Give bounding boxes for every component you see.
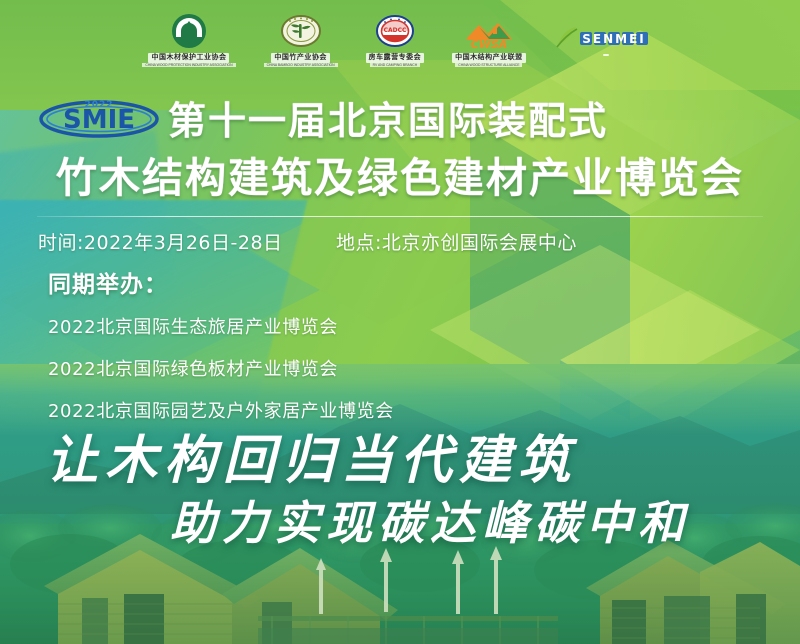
logo-cwsa-sublabel: CHINA WOOD STRUCTURE ALLIANCE bbox=[455, 63, 522, 67]
event-date: 时间:2022年3月26日-28日 bbox=[38, 228, 336, 255]
house-cwsa-icon: CWSA bbox=[459, 12, 519, 52]
logo-cwpia: 中国木材保护工业协会 CHINA WOOD PROTECTION INDUSTR… bbox=[142, 12, 235, 67]
concurrent-events-heading: 同期举办： bbox=[48, 265, 394, 299]
smie-year: 2022 bbox=[84, 100, 113, 110]
logo-cadcc-sublabel: RV AND CAMPING BRANCH bbox=[370, 63, 421, 67]
logo-cadcc-label: 房车露营专委会 bbox=[366, 53, 425, 63]
logo-cwpia-sublabel: CHINA WOOD PROTECTION INDUSTRY ASSOCIATI… bbox=[142, 63, 235, 67]
title-block: SMIE 2022 第十一届北京国际装配式 竹木结构建筑及绿色建材产业博览会 时… bbox=[0, 92, 800, 255]
concurrent-event-item: 2022北京国际生态旅居产业博览会 bbox=[48, 313, 394, 339]
page-title-line-2: 竹木结构建筑及绿色建材产业博览会 bbox=[0, 144, 800, 204]
title-divider bbox=[37, 216, 763, 217]
tree-shield-icon bbox=[166, 12, 212, 52]
event-meta-row: 时间:2022年3月26日-28日 地点:北京亦创国际会展中心 bbox=[0, 228, 800, 255]
logo-cwsa: CWSA 中国木结构产业联盟 CHINA WOOD STRUCTURE ALLI… bbox=[452, 12, 526, 67]
page-title-line-1: 第十一届北京国际装配式 bbox=[168, 90, 608, 145]
svg-text:SENMEI: SENMEI bbox=[582, 32, 646, 46]
slogan-line-2: 助力实现碳达峰碳中和 bbox=[170, 487, 690, 553]
svg-text:CADCC: CADCC bbox=[383, 27, 406, 34]
event-venue: 地点:北京亦创国际会展中心 bbox=[336, 228, 577, 255]
svg-text:CWSA: CWSA bbox=[471, 38, 508, 51]
concurrent-event-item: 2022北京国际绿色板材产业博览会 bbox=[48, 355, 394, 381]
concurrent-events-block: 同期举办： 2022北京国际生态旅居产业博览会 2022北京国际绿色板材产业博览… bbox=[48, 265, 394, 439]
logo-bamboo-label: 中国竹产业协会 bbox=[271, 53, 330, 63]
leaf-senmei-icon: SENMEI bbox=[554, 23, 658, 53]
smie-logo: SMIE 2022 bbox=[38, 95, 160, 139]
logo-senmei-label bbox=[603, 54, 609, 56]
logo-cadcc: CADCC 房车露营专委会 RV AND CAMPING BRANCH bbox=[366, 12, 425, 67]
exhibition-poster: 中国木材保护工业协会 CHINA WOOD PROTECTION INDUSTR… bbox=[0, 0, 800, 644]
slogan-line-1: 让木构回归当代建筑 bbox=[46, 418, 577, 493]
title-line-1-row: SMIE 2022 第十一届北京国际装配式 bbox=[0, 92, 800, 142]
cadcc-badge-icon: CADCC bbox=[372, 12, 418, 52]
logo-bamboo: 中国竹产业协会 CHINA BAMBOO INDUSTRY ASSOCIATIO… bbox=[264, 12, 338, 67]
logo-senmei: SENMEI bbox=[554, 23, 658, 56]
bamboo-oval-icon bbox=[278, 12, 324, 52]
association-logo-row: 中国木材保护工业协会 CHINA WOOD PROTECTION INDUSTR… bbox=[0, 8, 800, 70]
logo-cwpia-label: 中国木材保护工业协会 bbox=[148, 53, 229, 63]
logo-bamboo-sublabel: CHINA BAMBOO INDUSTRY ASSOCIATION bbox=[264, 63, 338, 67]
logo-cwsa-label: 中国木结构产业联盟 bbox=[452, 53, 526, 63]
